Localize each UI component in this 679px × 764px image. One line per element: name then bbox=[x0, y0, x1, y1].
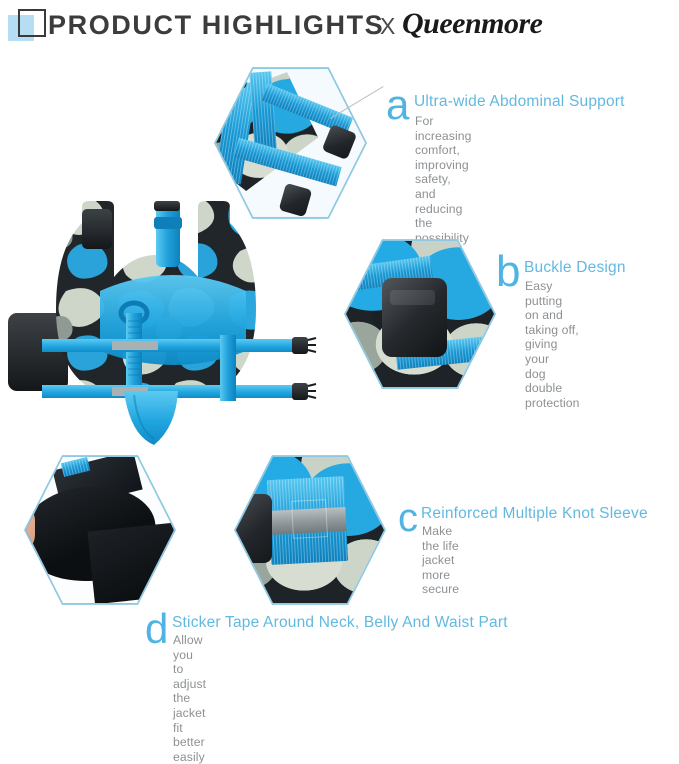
callout-desc-a: For increasing comfort, improving safety… bbox=[415, 114, 472, 260]
callout-letter-b: b bbox=[496, 250, 520, 294]
page-header: PRODUCT HIGHLIGHTS X Queenmore bbox=[0, 0, 679, 56]
title-separator: X bbox=[380, 12, 395, 40]
page-title: PRODUCT HIGHLIGHTS bbox=[48, 9, 384, 41]
knot-stitching bbox=[291, 499, 328, 539]
photo-knot-sleeve-closeup bbox=[236, 454, 384, 606]
callout-title-b: Buckle Design bbox=[524, 258, 626, 277]
velcro-base bbox=[88, 523, 174, 605]
hex-inner-d bbox=[26, 454, 174, 606]
hex-inner-c bbox=[236, 454, 384, 606]
photo-buckle-closeup bbox=[346, 238, 494, 390]
hex-frame-b bbox=[344, 236, 496, 392]
main-product-image bbox=[8, 195, 338, 450]
callout-title-a: Ultra-wide Abdominal Support bbox=[414, 92, 625, 111]
callout-letter-d: d bbox=[145, 608, 168, 650]
callout-desc-d: Allow you to adjust the jacket fit bette… bbox=[173, 633, 206, 764]
brand-name: Queenmore bbox=[402, 5, 543, 43]
callout-desc-b: Easy putting on and taking off, giving y… bbox=[525, 279, 580, 410]
callout-title-c: Reinforced Multiple Knot Sleeve bbox=[421, 504, 648, 523]
callout-title-d: Sticker Tape Around Neck, Belly And Wais… bbox=[172, 613, 508, 632]
hex-frame-d bbox=[24, 452, 176, 608]
dog-life-jacket-illustration bbox=[8, 195, 338, 450]
callout-letter-a: a bbox=[386, 84, 409, 126]
hex-inner-b bbox=[346, 238, 494, 390]
buckle-highlight bbox=[390, 290, 434, 305]
callout-desc-c: Make the life jacket more secure bbox=[422, 524, 459, 597]
hex-frame-c bbox=[234, 452, 386, 608]
double-square-logo-icon bbox=[8, 9, 46, 43]
logo-square-outline bbox=[18, 9, 46, 37]
callout-letter-c: c bbox=[398, 498, 418, 538]
photo-velcro-sticker-tape bbox=[26, 454, 174, 606]
